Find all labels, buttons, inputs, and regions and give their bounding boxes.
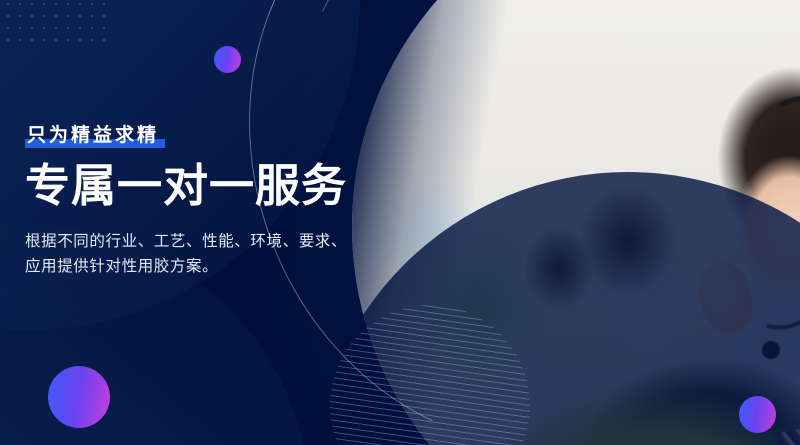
subcopy-line-2: 应用提供针对性用胶方案。	[25, 254, 385, 279]
gradient-circle-bottom-left	[48, 366, 110, 428]
promo-banner: 努力 就是 不努力就是淡季 只为精益求精 专属一对一服务 根据不同的行业、工艺、…	[0, 0, 800, 445]
page-title: 专属一对一服务	[25, 162, 385, 209]
gradient-circle-bottom-right	[739, 396, 776, 433]
subcopy: 根据不同的行业、工艺、性能、环境、要求、 应用提供针对性用胶方案。	[25, 229, 385, 279]
gradient-circle-top	[214, 46, 241, 73]
copy-block: 只为精益求精 专属一对一服务 根据不同的行业、工艺、性能、环境、要求、 应用提供…	[25, 124, 385, 279]
dot-grid-top-left	[2, 0, 114, 44]
eyebrow-label: 只为精益求精	[27, 125, 159, 146]
subcopy-line-1: 根据不同的行业、工艺、性能、环境、要求、	[25, 229, 385, 254]
eyebrow-text: 只为精益求精	[25, 124, 165, 148]
